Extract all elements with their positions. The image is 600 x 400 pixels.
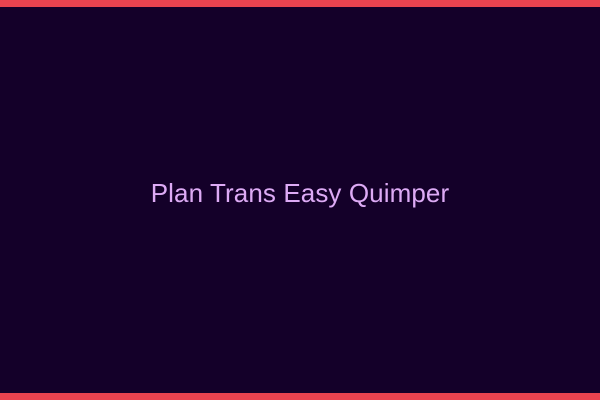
banner-content-area: Plan Trans Easy Quimper xyxy=(0,7,600,393)
top-accent-rule xyxy=(0,0,600,7)
bottom-accent-rule xyxy=(0,393,600,400)
banner-title: Plan Trans Easy Quimper xyxy=(151,178,450,209)
banner-canvas: Plan Trans Easy Quimper xyxy=(0,0,600,400)
